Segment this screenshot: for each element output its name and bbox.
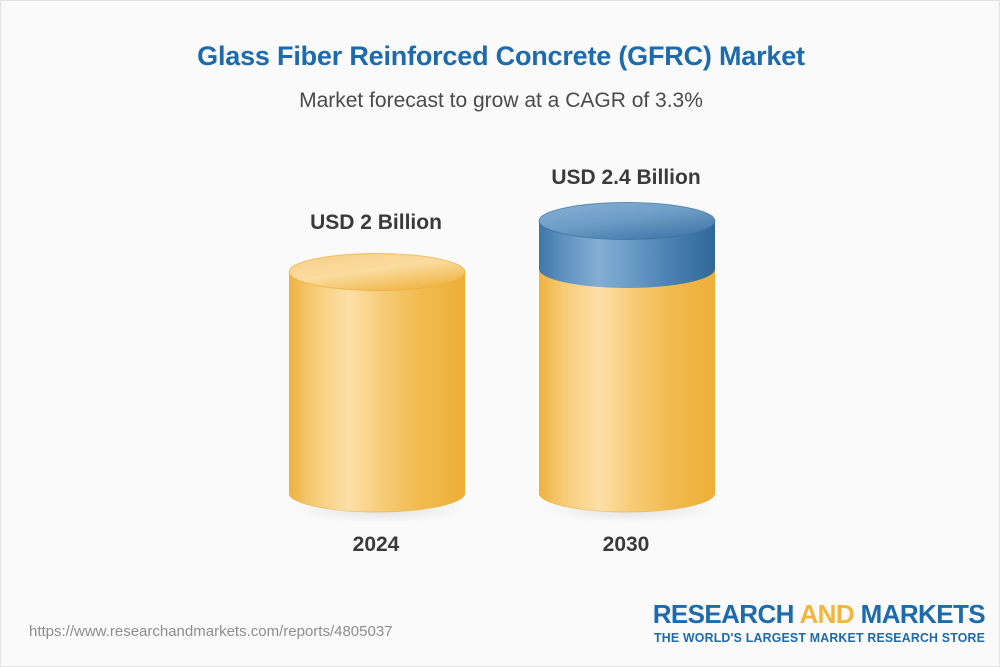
bar-cylinder-2030[interactable] <box>537 202 717 522</box>
chart-canvas: Glass Fiber Reinforced Concrete (GFRC) M… <box>0 0 1000 667</box>
plot-area: USD 2 Billion <box>1 1 1000 601</box>
research-and-markets-logo[interactable]: RESEARCH AND MARKETS THE WORLD'S LARGEST… <box>649 601 985 645</box>
bar-value-label-2030: USD 2.4 Billion <box>496 166 756 190</box>
bar-category-label-2024: 2024 <box>246 533 506 557</box>
logo-wordmark: RESEARCH AND MARKETS <box>649 601 985 628</box>
logo-word-and: AND <box>799 599 854 629</box>
bar-category-label-2030: 2030 <box>496 533 756 557</box>
bar-value-label-2024: USD 2 Billion <box>246 211 506 235</box>
logo-word-markets: MARKETS <box>854 599 985 629</box>
logo-word-research: RESEARCH <box>653 599 800 629</box>
report-url-link[interactable]: https://www.researchandmarkets.com/repor… <box>29 623 393 640</box>
logo-tagline: THE WORLD'S LARGEST MARKET RESEARCH STOR… <box>654 631 985 645</box>
bar-cylinder-2024[interactable] <box>287 253 467 521</box>
